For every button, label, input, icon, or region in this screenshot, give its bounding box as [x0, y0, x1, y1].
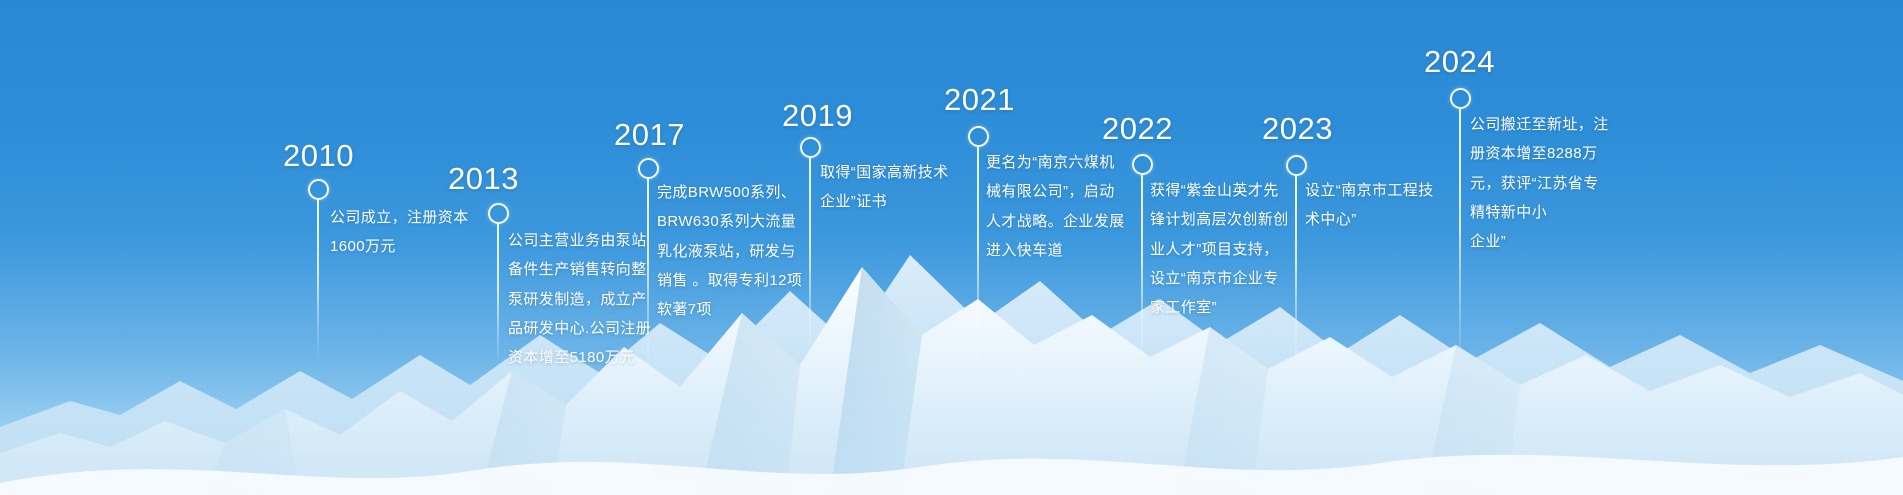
timeline-node-circle-icon[interactable]	[308, 179, 329, 200]
timeline-stem-line	[809, 157, 811, 367]
timeline-node-circle-icon[interactable]	[488, 203, 509, 224]
timeline-node-circle-icon[interactable]	[968, 126, 989, 147]
timeline-stem-line	[977, 146, 979, 368]
timeline-stem-line	[1295, 175, 1297, 370]
timeline-year-label: 2024	[1424, 46, 1495, 77]
timeline-year-label: 2021	[944, 84, 1015, 115]
atmospheric-haze	[0, 235, 1903, 495]
timeline-year-label: 2017	[614, 119, 685, 150]
timeline-year-label: 2019	[782, 100, 853, 131]
timeline-year-label: 2010	[283, 140, 354, 171]
timeline-node-circle-icon[interactable]	[638, 158, 659, 179]
timeline-year-label: 2013	[448, 163, 519, 194]
timeline-stem-line	[317, 199, 319, 361]
timeline-node-circle-icon[interactable]	[1450, 88, 1471, 109]
timeline-stem-line	[1459, 108, 1461, 370]
timeline-node-circle-icon[interactable]	[800, 137, 821, 158]
timeline-description: 设立“南京市工程技 术中心”	[1305, 176, 1495, 235]
timeline-description: 公司搬迁至新址，注 册资本增至8288万 元，获评“江苏省专 精特新中小 企业”	[1470, 110, 1665, 256]
timeline-node-circle-icon[interactable]	[1286, 155, 1307, 176]
timeline-year-label: 2022	[1102, 113, 1173, 144]
timeline-stem-line	[497, 223, 499, 368]
timeline-stem-line	[647, 178, 649, 368]
timeline-stem-line	[1141, 174, 1143, 369]
timeline-year-label: 2023	[1262, 113, 1333, 144]
timeline-node-circle-icon[interactable]	[1132, 154, 1153, 175]
timeline-description: 完成BRW500系列、 BRW630系列大流量 乳化液泵站，研发与 销售 。取得…	[657, 178, 847, 324]
timeline-infographic: 2010公司成立，注册资本 1600万元2013公司主营业务由泵站 备件生产销售…	[0, 0, 1903, 495]
